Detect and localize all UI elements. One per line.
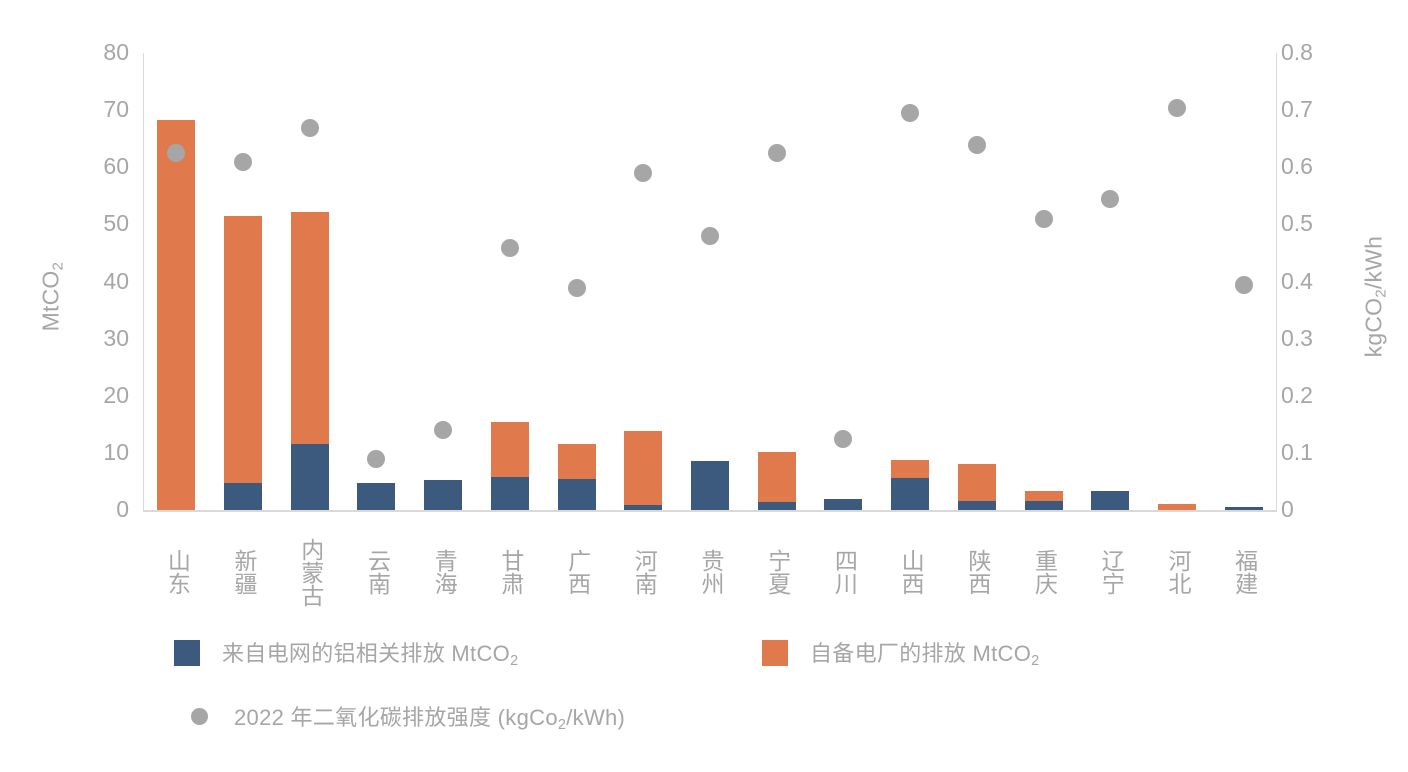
bar-column[interactable] — [958, 53, 996, 510]
y-axis-left-tick: 30 — [103, 327, 129, 350]
x-axis-category-text: 辽宁 — [1097, 524, 1124, 620]
x-axis-category-text: 广西 — [563, 524, 590, 620]
bar-segment-grid-emissions[interactable] — [691, 461, 729, 510]
x-axis-category-label: 陕西 — [963, 524, 991, 620]
legend-item-carbon-intensity[interactable]: 2022 年二氧化碳排放强度 (kgCo2/kWh) — [186, 700, 625, 733]
y-axis-left-tick: 10 — [103, 441, 129, 464]
stacked-bar — [424, 480, 462, 510]
bar-column[interactable] — [157, 53, 195, 510]
stacked-bar — [958, 464, 996, 510]
intensity-data-point[interactable] — [568, 279, 586, 297]
intensity-data-point[interactable] — [634, 164, 652, 182]
bar-column[interactable] — [1025, 53, 1063, 510]
bar-segment-captive-power[interactable] — [1025, 491, 1063, 501]
stacked-bar — [1225, 507, 1263, 510]
y-axis-right-tick: 0.6 — [1281, 155, 1313, 178]
y-axis-left-tick: 40 — [103, 270, 129, 293]
bar-column[interactable] — [424, 53, 462, 510]
x-axis-baseline — [143, 510, 1277, 512]
legend-label-captive-subscript: 2 — [1031, 653, 1039, 669]
intensity-data-point[interactable] — [1101, 190, 1119, 208]
intensity-data-point[interactable] — [1035, 210, 1053, 228]
stacked-bar — [624, 431, 662, 510]
bar-segment-captive-power[interactable] — [624, 431, 662, 505]
stacked-bar — [491, 422, 529, 510]
y-axis-right-tick: 0.8 — [1281, 41, 1313, 64]
bar-column[interactable] — [691, 53, 729, 510]
y-axis-left-tick: 60 — [103, 155, 129, 178]
x-axis-category-label: 山东 — [162, 524, 190, 620]
y-axis-right-tick: 0.2 — [1281, 384, 1313, 407]
intensity-data-point[interactable] — [1235, 276, 1253, 294]
legend-label-captive-text: 自备电厂的排放 MtCO — [810, 641, 1031, 666]
y-axis-left-tick: 70 — [103, 98, 129, 121]
x-axis-category-text: 河南 — [630, 524, 657, 620]
bar-segment-captive-power[interactable] — [291, 212, 329, 444]
y-axis-right-tick: 0.5 — [1281, 212, 1313, 235]
y-axis-right-tick: 0.4 — [1281, 270, 1313, 293]
bar-segment-grid-emissions[interactable] — [824, 499, 862, 510]
emissions-chart: MtCO2 kgCO2/kWh 80706050403020100 0.80.7… — [0, 0, 1408, 772]
intensity-data-point[interactable] — [167, 144, 185, 162]
y-axis-right-title-subscript: 2 — [1373, 289, 1390, 298]
legend-swatch-orange — [762, 640, 788, 666]
stacked-bar — [224, 216, 262, 510]
x-axis-category-label: 内蒙古 — [296, 524, 324, 620]
bar-segment-captive-power[interactable] — [891, 460, 929, 478]
bar-column[interactable] — [224, 53, 262, 510]
legend-item-grid-emissions[interactable]: 来自电网的铝相关排放 MtCO2 — [174, 636, 518, 669]
bar-segment-grid-emissions[interactable] — [1225, 507, 1263, 510]
bar-segment-captive-power[interactable] — [558, 444, 596, 478]
stacked-bar — [157, 120, 195, 510]
stacked-bar — [758, 452, 796, 510]
bar-segment-grid-emissions[interactable] — [758, 502, 796, 510]
bar-segment-grid-emissions[interactable] — [558, 479, 596, 510]
bar-segment-captive-power[interactable] — [758, 452, 796, 502]
bar-column[interactable] — [1158, 53, 1196, 510]
bar-column[interactable] — [624, 53, 662, 510]
x-axis-category-text: 陕西 — [964, 524, 991, 620]
intensity-data-point[interactable] — [901, 104, 919, 122]
bar-segment-grid-emissions[interactable] — [424, 480, 462, 510]
x-axis-category-label: 宁夏 — [763, 524, 791, 620]
y-axis-right-tick: 0.3 — [1281, 327, 1313, 350]
y-axis-left-title-text: MtCO — [37, 271, 63, 332]
x-axis-category-label: 云南 — [362, 524, 390, 620]
stacked-bar — [1158, 504, 1196, 510]
legend-label-captive-power: 自备电厂的排放 MtCO2 — [810, 636, 1040, 669]
y-axis-right-title: kgCO2/kWh — [1360, 222, 1389, 372]
legend-label-carbon-intensity: 2022 年二氧化碳排放强度 (kgCo2/kWh) — [234, 700, 625, 733]
bar-segment-captive-power[interactable] — [157, 120, 195, 510]
bar-segment-captive-power[interactable] — [1158, 504, 1196, 510]
x-axis-category-text: 河北 — [1164, 524, 1191, 620]
intensity-data-point[interactable] — [367, 450, 385, 468]
bar-column[interactable] — [758, 53, 796, 510]
y-axis-right-title-text: kgCO — [1360, 298, 1386, 358]
bar-segment-grid-emissions[interactable] — [891, 478, 929, 510]
intensity-data-point[interactable] — [834, 430, 852, 448]
x-axis-category-label: 河南 — [629, 524, 657, 620]
x-axis-category-label: 重庆 — [1030, 524, 1058, 620]
legend-swatch-blue — [174, 640, 200, 666]
x-axis-category-label: 贵州 — [696, 524, 724, 620]
y-axis-left-tick: 20 — [103, 384, 129, 407]
x-axis-category-text: 宁夏 — [764, 524, 791, 620]
legend-label-grid-subscript: 2 — [510, 653, 518, 669]
x-axis-category-text: 山东 — [163, 524, 190, 620]
intensity-data-point[interactable] — [1168, 99, 1186, 117]
bar-segment-grid-emissions[interactable] — [1091, 491, 1129, 510]
bar-segment-captive-power[interactable] — [491, 422, 529, 477]
x-axis-category-label: 山西 — [896, 524, 924, 620]
legend-label-intensity-text: 2022 年二氧化碳排放强度 (kgCo — [234, 705, 558, 730]
legend-label-intensity-tail: /kWh) — [566, 705, 625, 730]
legend-label-grid-text: 来自电网的铝相关排放 MtCO — [222, 641, 510, 666]
stacked-bar — [691, 461, 729, 510]
stacked-bar — [891, 460, 929, 510]
x-axis-category-text: 内蒙古 — [297, 524, 324, 620]
x-axis-category-label: 河北 — [1163, 524, 1191, 620]
x-axis-category-text: 新疆 — [230, 524, 257, 620]
bar-column[interactable] — [357, 53, 395, 510]
x-axis-category-text: 云南 — [363, 524, 390, 620]
y-axis-right-tick: 0.7 — [1281, 98, 1313, 121]
intensity-data-point[interactable] — [701, 227, 719, 245]
x-axis-category-text: 甘肃 — [497, 524, 524, 620]
intensity-data-point[interactable] — [434, 421, 452, 439]
x-axis-category-label: 广西 — [563, 524, 591, 620]
bar-segment-grid-emissions[interactable] — [958, 501, 996, 510]
x-axis-category-label: 福建 — [1230, 524, 1258, 620]
y-axis-right-title-tail: /kWh — [1360, 236, 1386, 289]
bar-column[interactable] — [491, 53, 529, 510]
bar-column[interactable] — [1091, 53, 1129, 510]
y-axis-left-tick: 50 — [103, 212, 129, 235]
bar-segment-grid-emissions[interactable] — [1025, 501, 1063, 510]
bar-segment-captive-power[interactable] — [224, 216, 262, 483]
plot-area — [143, 53, 1277, 510]
legend-label-grid-emissions: 来自电网的铝相关排放 MtCO2 — [222, 636, 518, 669]
stacked-bar — [291, 212, 329, 510]
y-axis-left-tick: 80 — [103, 41, 129, 64]
y-axis-right-tick: 0.1 — [1281, 441, 1313, 464]
x-axis-category-label: 青海 — [429, 524, 457, 620]
bar-segment-grid-emissions[interactable] — [291, 444, 329, 510]
bar-segment-captive-power[interactable] — [958, 464, 996, 501]
intensity-data-point[interactable] — [968, 136, 986, 154]
intensity-data-point[interactable] — [301, 119, 319, 137]
intensity-data-point[interactable] — [768, 144, 786, 162]
stacked-bar — [1025, 491, 1063, 510]
y-axis-right-tick: 0 — [1281, 498, 1294, 521]
x-axis-category-label: 辽宁 — [1096, 524, 1124, 620]
legend-label-intensity-subscript: 2 — [558, 717, 566, 733]
x-axis-category-text: 山西 — [897, 524, 924, 620]
stacked-bar — [357, 483, 395, 510]
bar-segment-grid-emissions[interactable] — [491, 477, 529, 510]
stacked-bar — [1091, 491, 1129, 510]
x-axis-category-text: 重庆 — [1030, 524, 1057, 620]
stacked-bar — [824, 499, 862, 510]
x-axis-category-text: 青海 — [430, 524, 457, 620]
x-axis-category-text: 四川 — [830, 524, 857, 620]
bar-segment-grid-emissions[interactable] — [357, 483, 395, 510]
x-axis-category-label: 四川 — [829, 524, 857, 620]
bar-segment-grid-emissions[interactable] — [224, 483, 262, 510]
legend-dot-gray-icon — [191, 708, 208, 725]
intensity-data-point[interactable] — [234, 153, 252, 171]
x-axis-category-label: 甘肃 — [496, 524, 524, 620]
y-axis-left-tick: 0 — [116, 498, 129, 521]
y-axis-left-title-subscript: 2 — [50, 262, 67, 271]
bar-segment-grid-emissions[interactable] — [624, 505, 662, 510]
stacked-bar — [558, 444, 596, 510]
x-axis-category-text: 贵州 — [697, 524, 724, 620]
x-axis-category-text: 福建 — [1231, 524, 1258, 620]
legend-item-captive-power[interactable]: 自备电厂的排放 MtCO2 — [762, 636, 1040, 669]
y-axis-left-title: MtCO2 — [37, 237, 66, 357]
intensity-data-point[interactable] — [501, 239, 519, 257]
x-axis-category-label: 新疆 — [229, 524, 257, 620]
